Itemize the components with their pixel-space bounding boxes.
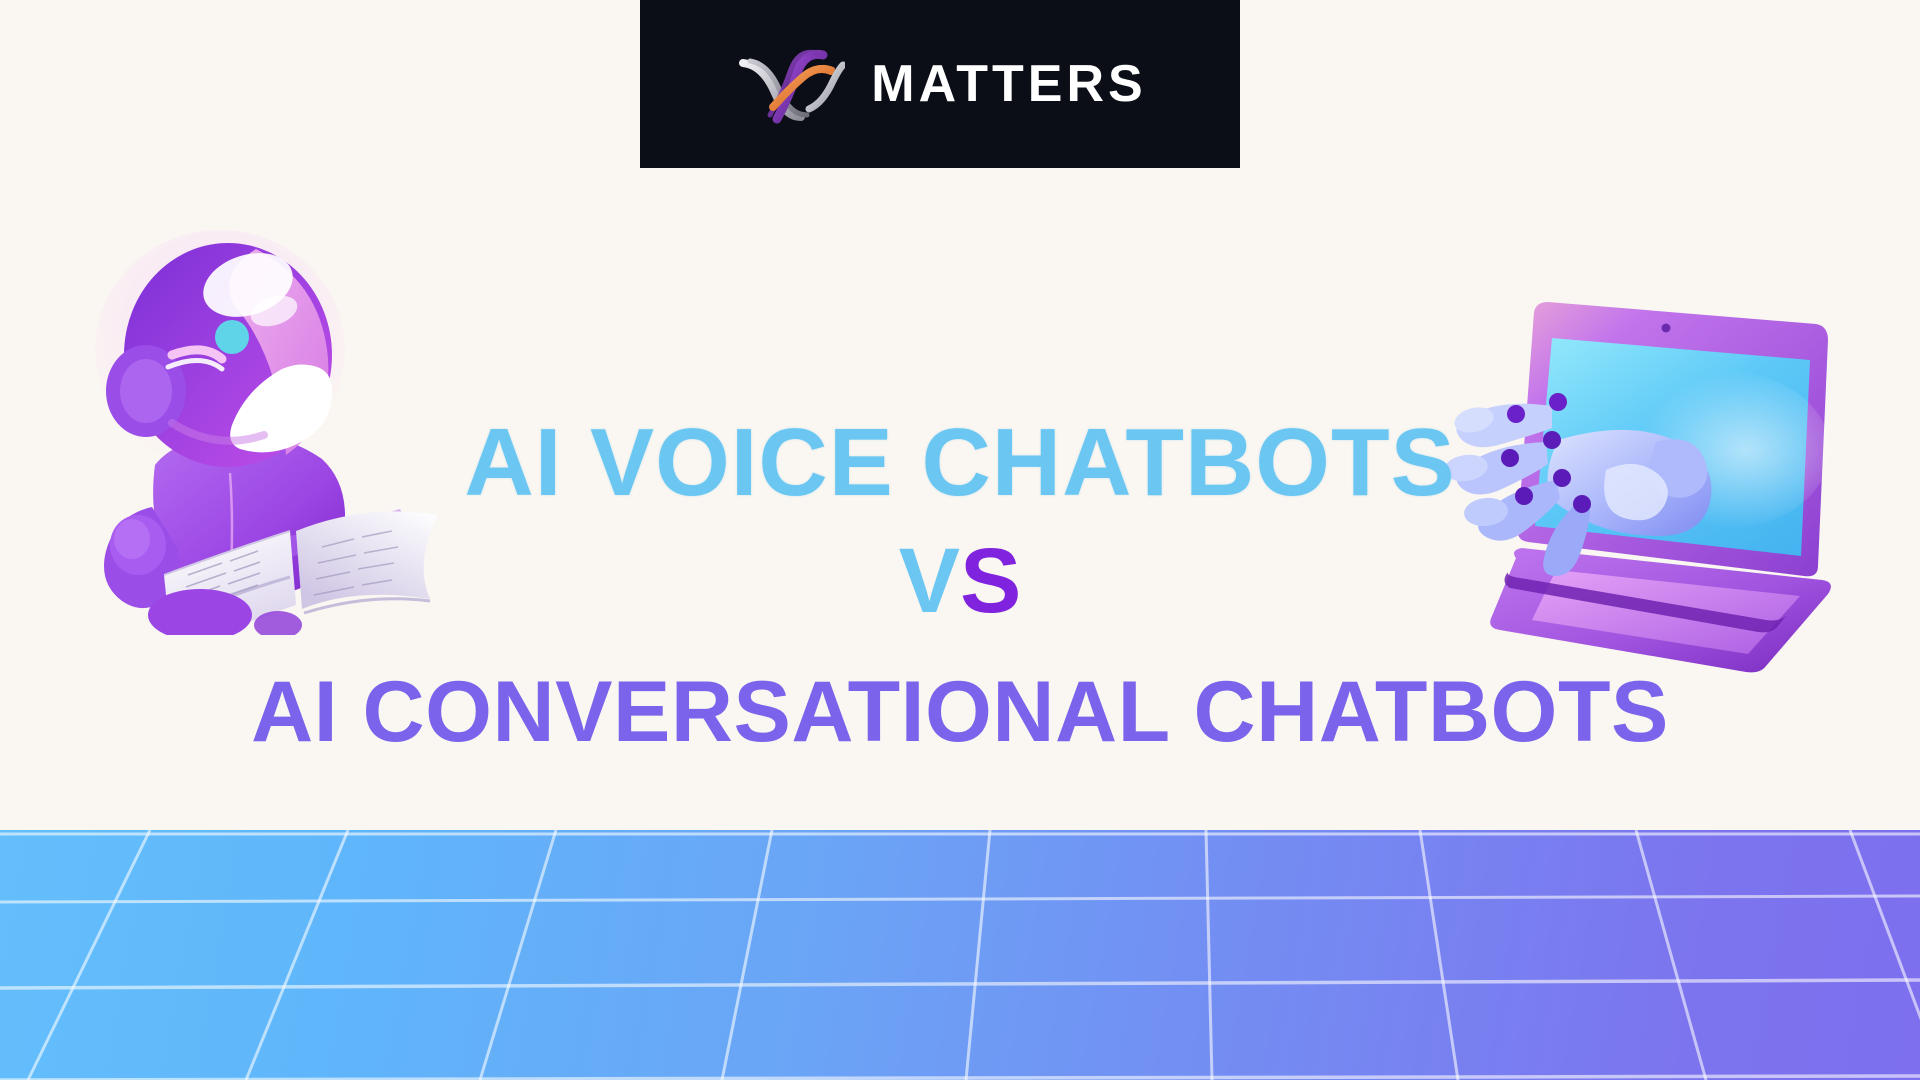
robot-indicator-dot (215, 320, 249, 354)
robot-reading-book-illustration (60, 215, 480, 635)
perspective-grid-floor (0, 830, 1920, 1080)
brand-header-band: MATTERS (640, 0, 1240, 168)
brand-wordmark: MATTERS (871, 58, 1146, 110)
wave-swoosh-logo-icon (733, 41, 845, 127)
robot-illustration-svg (60, 215, 480, 635)
laptop-camera-icon (1662, 324, 1671, 333)
vs-letter-s: S (960, 530, 1021, 632)
poster-canvas: AI VOICE CHATBOTS VS AI CONVERSATIONAL C… (0, 0, 1920, 1080)
grid-lines-svg (0, 830, 1920, 1080)
vs-letter-v: V (899, 530, 960, 632)
laptop-illustration-svg (1320, 290, 1860, 690)
robot-hand-laptop-illustration (1320, 290, 1860, 690)
